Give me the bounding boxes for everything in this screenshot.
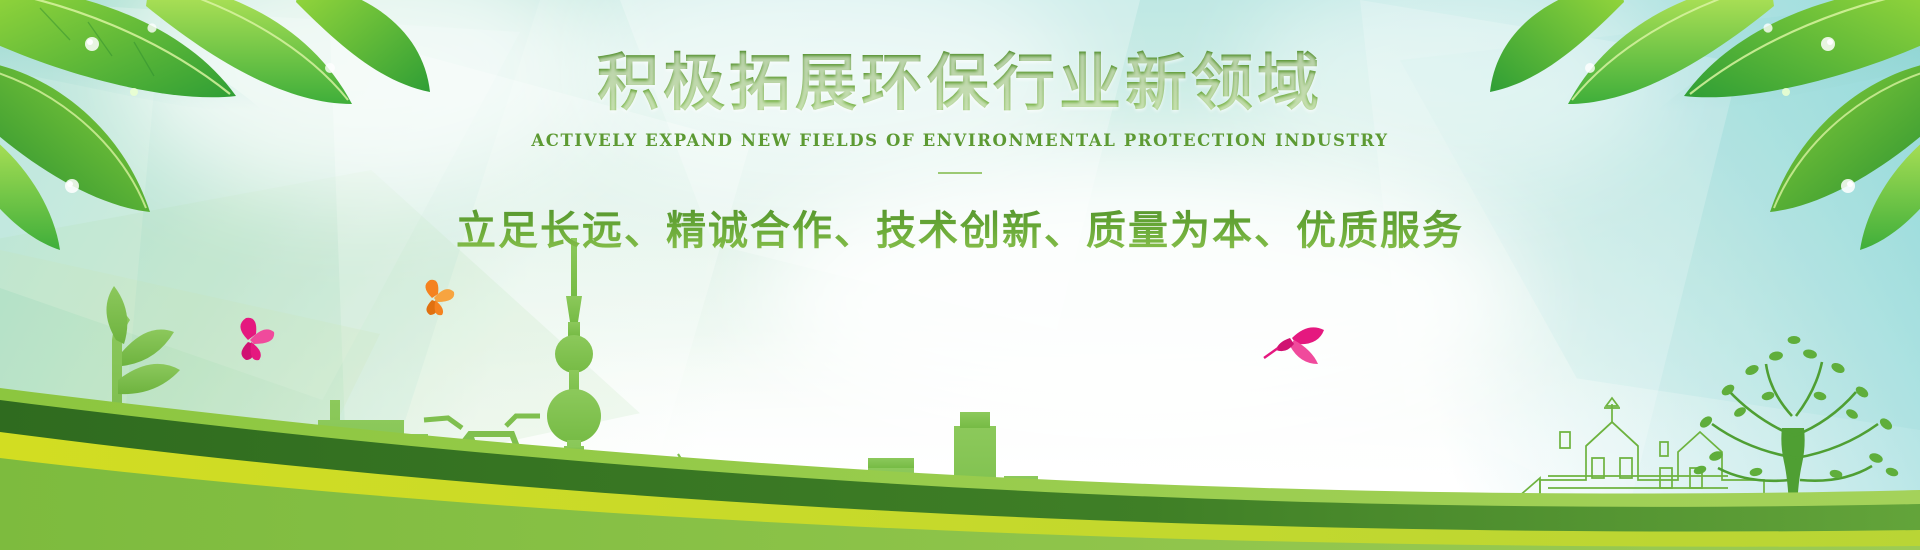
- divider-rule: [938, 172, 982, 174]
- green-wave-bands: [0, 380, 1920, 550]
- page-title: 积极拓展环保行业新领域: [0, 48, 1920, 117]
- butterfly-icon: [425, 280, 454, 315]
- hummingbird-icon: [1264, 327, 1324, 364]
- environmental-banner: 积极拓展环保行业新领域 ACTIVELY EXPAND NEW FIELDS O…: [0, 0, 1920, 550]
- banner-copy: 积极拓展环保行业新领域 ACTIVELY EXPAND NEW FIELDS O…: [0, 48, 1920, 256]
- page-subtitle-english: ACTIVELY EXPAND NEW FIELDS OF ENVIRONMEN…: [0, 131, 1920, 150]
- butterfly-icon: [240, 318, 274, 360]
- slogan-text: 立足长远、精诚合作、技术创新、质量为本、优质服务: [0, 198, 1920, 256]
